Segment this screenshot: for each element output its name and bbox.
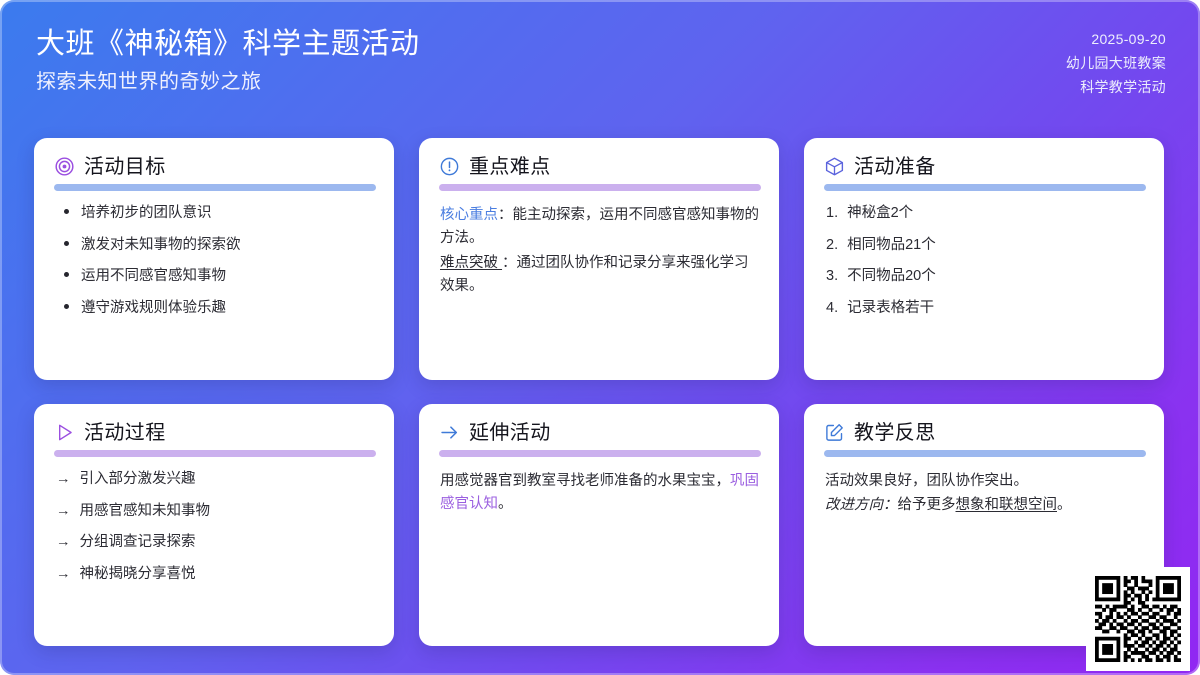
meta-date: 2025-09-20 bbox=[1091, 30, 1166, 49]
box-icon bbox=[824, 156, 845, 177]
qr-code-image bbox=[1095, 576, 1181, 662]
card-title: 活动过程 bbox=[84, 423, 166, 443]
list-item: 遵守游戏规则体验乐趣 bbox=[52, 299, 376, 319]
list-item-number: 2. bbox=[826, 236, 838, 256]
list-item-text: 遵守游戏规则体验乐趣 bbox=[81, 299, 226, 319]
list-item-text: 激发对未知事物的探索欲 bbox=[81, 236, 241, 256]
list-item-text: 相同物品21个 bbox=[847, 236, 936, 256]
reflection-lead: 给予更多 bbox=[898, 497, 956, 513]
title-underline-bar bbox=[439, 184, 761, 191]
list-item: 4.记录表格若干 bbox=[822, 299, 1146, 319]
paragraph-breakthrough: 难点突破 ：通过团队协作和记录分享来强化学习效果。 bbox=[440, 252, 761, 299]
page-subtitle: 探索未知世界的奇妙之旅 bbox=[36, 69, 420, 95]
reflection-line1: 活动效果良好，团队协作突出。 bbox=[825, 470, 1146, 493]
arrow-glyph: → bbox=[56, 470, 71, 490]
list-item-text: 培养初步的团队意识 bbox=[81, 204, 212, 224]
list-item: 激发对未知事物的探索欲 bbox=[52, 236, 376, 256]
card-header: 活动准备 bbox=[822, 156, 1146, 177]
card-header: 教学反思 bbox=[822, 422, 1146, 443]
card-grid: 活动目标 培养初步的团队意识 激发对未知事物的探索欲 运用不同感官感知事物 遵守… bbox=[34, 138, 1166, 646]
card-title: 延伸活动 bbox=[469, 423, 551, 443]
title-underline-bar bbox=[54, 450, 376, 457]
list-item-text: 引入部分激发兴趣 bbox=[80, 470, 196, 490]
key-points-body: 核心重点：能主动探索，运用不同感官感知事物的方法。 难点突破 ：通过团队协作和记… bbox=[437, 204, 761, 299]
card-objectives: 活动目标 培养初步的团队意识 激发对未知事物的探索欲 运用不同感官感知事物 遵守… bbox=[34, 138, 394, 380]
reflection-underlined: 想象和联想空间 bbox=[956, 497, 1058, 513]
title-underline-bar bbox=[54, 184, 376, 191]
reflection-tail: 。 bbox=[1057, 497, 1072, 513]
card-header: 活动目标 bbox=[52, 156, 376, 177]
list-item: 培养初步的团队意识 bbox=[52, 204, 376, 224]
bullet-dot bbox=[64, 241, 69, 246]
reflection-label: 改进方向： bbox=[825, 497, 898, 513]
lesson-plan-poster: 大班《神秘箱》科学主题活动 探索未知世界的奇妙之旅 2025-09-20 幼儿园… bbox=[0, 0, 1200, 675]
arrow-glyph: → bbox=[56, 565, 71, 585]
title-underline-bar bbox=[824, 450, 1146, 457]
header-title-block: 大班《神秘箱》科学主题活动 探索未知世界的奇妙之旅 bbox=[36, 26, 420, 95]
arrow-glyph: → bbox=[56, 533, 71, 553]
list-item: →用感官感知未知事物 bbox=[52, 502, 376, 522]
qr-code[interactable] bbox=[1086, 567, 1190, 671]
list-item-text: 运用不同感官感知事物 bbox=[81, 267, 226, 287]
list-item-text: 记录表格若干 bbox=[847, 299, 934, 319]
card-header: 活动过程 bbox=[52, 422, 376, 443]
extension-tail: 。 bbox=[498, 496, 513, 512]
process-list: →引入部分激发兴趣 →用感官感知未知事物 →分组调查记录探索 →神秘揭晓分享喜悦 bbox=[52, 470, 376, 584]
list-item-text: 神秘盒2个 bbox=[847, 204, 913, 224]
target-icon bbox=[54, 156, 75, 177]
card-title: 教学反思 bbox=[854, 423, 936, 443]
reflection-body: 活动效果良好，团队协作突出。 改进方向：给予更多想象和联想空间。 bbox=[822, 470, 1146, 518]
card-header: 延伸活动 bbox=[437, 422, 761, 443]
card-title: 重点难点 bbox=[469, 157, 551, 177]
page-title: 大班《神秘箱》科学主题活动 bbox=[36, 26, 420, 63]
alert-circle-icon bbox=[439, 156, 460, 177]
arrow-right-icon bbox=[439, 422, 460, 443]
reflection-line2: 改进方向：给予更多想象和联想空间。 bbox=[825, 494, 1146, 517]
preparation-list: 1.神秘盒2个 2.相同物品21个 3.不同物品20个 4.记录表格若干 bbox=[822, 204, 1146, 318]
list-item: 2.相同物品21个 bbox=[822, 236, 1146, 256]
list-item: →引入部分激发兴趣 bbox=[52, 470, 376, 490]
bullet-dot bbox=[64, 209, 69, 214]
bullet-dot bbox=[64, 304, 69, 309]
card-header: 重点难点 bbox=[437, 156, 761, 177]
bullet-dot bbox=[64, 272, 69, 277]
list-item: →分组调查记录探索 bbox=[52, 533, 376, 553]
card-title: 活动目标 bbox=[84, 157, 166, 177]
list-item: →神秘揭晓分享喜悦 bbox=[52, 565, 376, 585]
list-item-text: 神秘揭晓分享喜悦 bbox=[80, 565, 196, 585]
separator: ： bbox=[502, 255, 517, 271]
list-item: 3.不同物品20个 bbox=[822, 267, 1146, 287]
play-triangle-icon bbox=[54, 422, 75, 443]
edit-square-icon bbox=[824, 422, 845, 443]
card-title: 活动准备 bbox=[854, 157, 936, 177]
arrow-glyph: → bbox=[56, 502, 71, 522]
list-item-number: 4. bbox=[826, 299, 838, 319]
list-item-text: 用感官感知未知事物 bbox=[80, 502, 211, 522]
list-item-number: 3. bbox=[826, 267, 838, 287]
paragraph-core: 核心重点：能主动探索，运用不同感官感知事物的方法。 bbox=[440, 204, 761, 251]
list-item: 运用不同感官感知事物 bbox=[52, 267, 376, 287]
extension-body: 用感觉器官到教室寻找老师准备的水果宝宝，巩固感官认知。 bbox=[437, 470, 761, 517]
label-breakthrough: 难点突破 bbox=[440, 255, 502, 271]
extension-lead: 用感觉器官到教室寻找老师准备的水果宝宝， bbox=[440, 473, 730, 489]
list-item-number: 1. bbox=[826, 204, 838, 224]
list-item-text: 不同物品20个 bbox=[847, 267, 936, 287]
meta-category: 科学教学活动 bbox=[1080, 78, 1166, 97]
separator: ： bbox=[498, 207, 513, 223]
meta-audience: 幼儿园大班教案 bbox=[1066, 54, 1166, 73]
list-item-text: 分组调查记录探索 bbox=[80, 533, 196, 553]
label-core: 核心重点 bbox=[440, 207, 498, 223]
title-underline-bar bbox=[439, 450, 761, 457]
list-item: 1.神秘盒2个 bbox=[822, 204, 1146, 224]
title-underline-bar bbox=[824, 184, 1146, 191]
card-key-points: 重点难点 核心重点：能主动探索，运用不同感官感知事物的方法。 难点突破 ：通过团… bbox=[419, 138, 779, 380]
card-preparation: 活动准备 1.神秘盒2个 2.相同物品21个 3.不同物品20个 4.记录表格若… bbox=[804, 138, 1164, 380]
card-process: 活动过程 →引入部分激发兴趣 →用感官感知未知事物 →分组调查记录探索 →神秘揭… bbox=[34, 404, 394, 646]
card-extension: 延伸活动 用感觉器官到教室寻找老师准备的水果宝宝，巩固感官认知。 bbox=[419, 404, 779, 646]
objectives-list: 培养初步的团队意识 激发对未知事物的探索欲 运用不同感官感知事物 遵守游戏规则体… bbox=[52, 204, 376, 318]
header-meta-block: 2025-09-20 幼儿园大班教案 科学教学活动 bbox=[1066, 26, 1166, 97]
poster-header: 大班《神秘箱》科学主题活动 探索未知世界的奇妙之旅 2025-09-20 幼儿园… bbox=[0, 0, 1200, 128]
